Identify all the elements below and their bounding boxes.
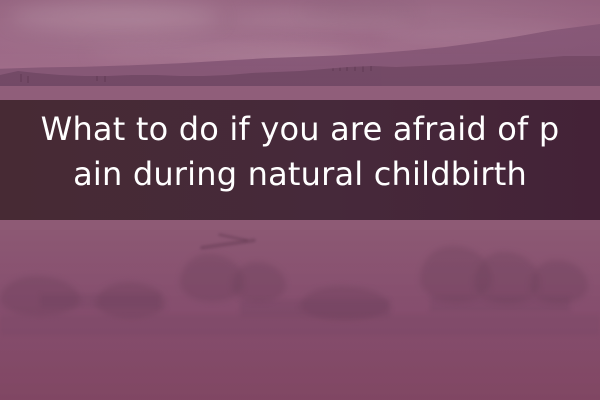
screenshot-root: What to do if you are afraid of pain dur… (0, 0, 600, 400)
caption-band: What to do if you are afraid of pain dur… (0, 100, 600, 220)
caption-title-text: What to do if you are afraid of pain dur… (0, 107, 600, 197)
